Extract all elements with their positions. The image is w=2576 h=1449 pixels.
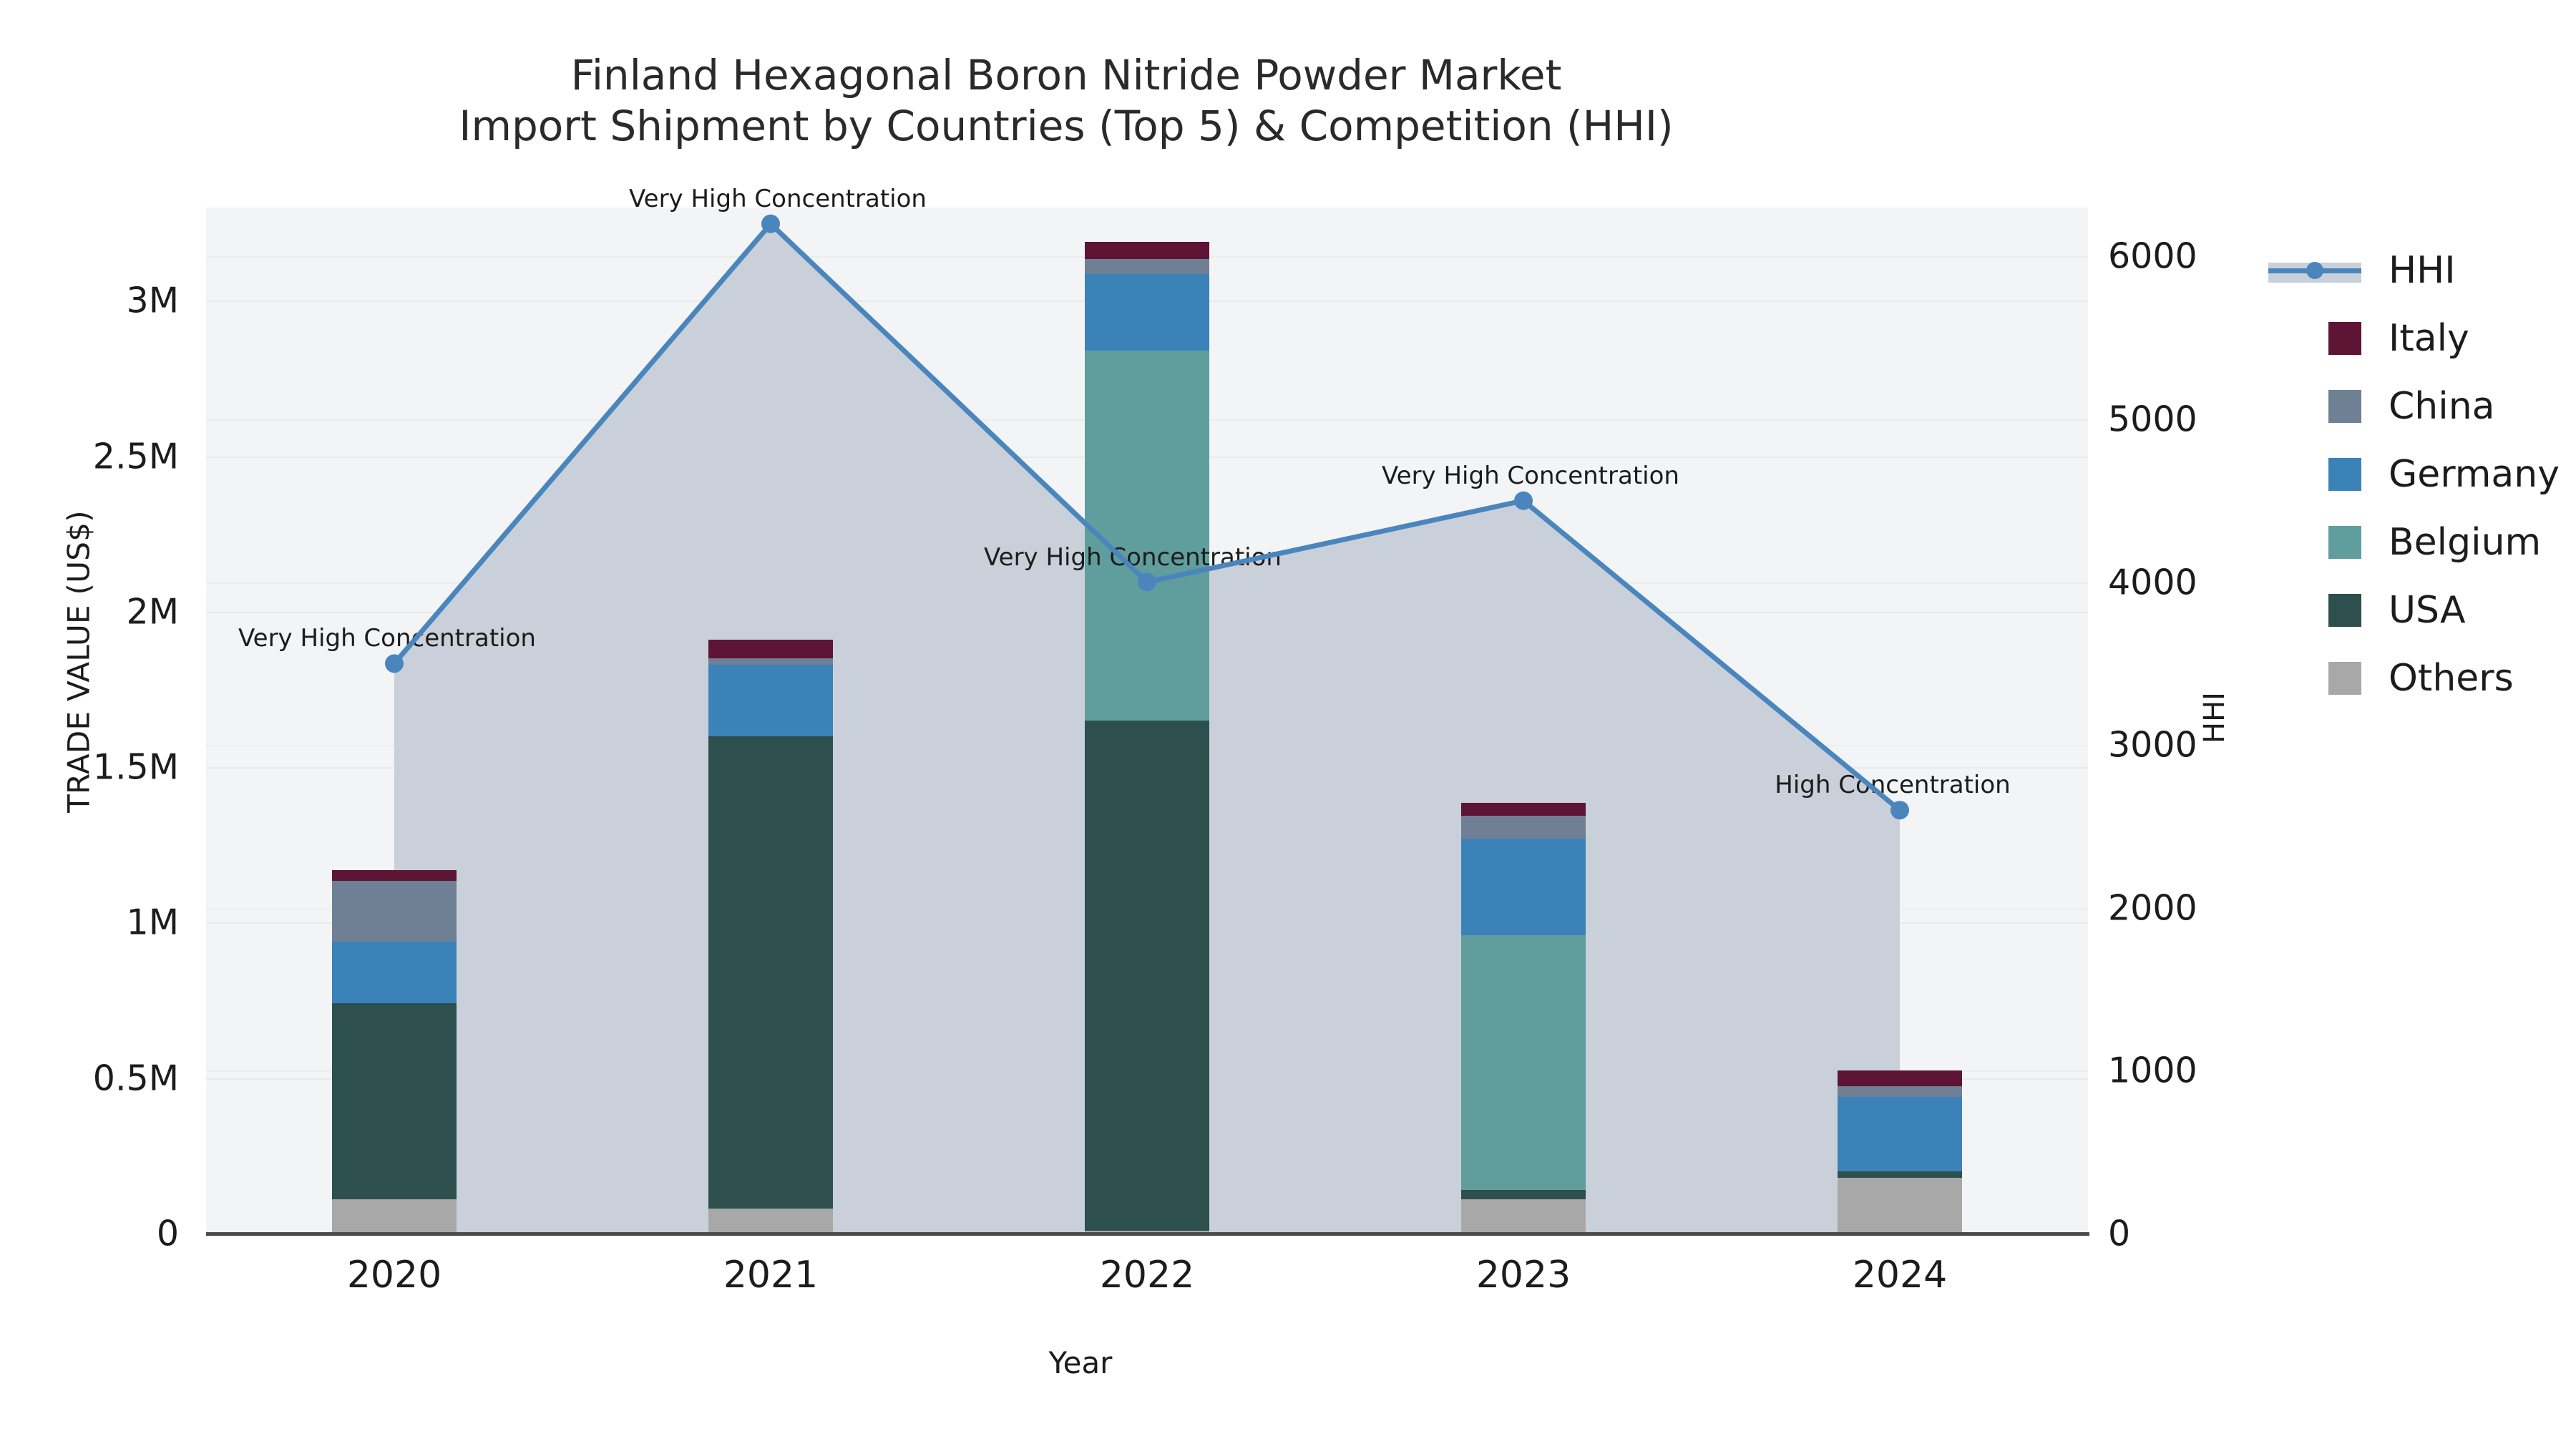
y-tick-left-0.5M: 0.5M <box>14 1058 179 1098</box>
legend-label-usa: USA <box>2389 589 2466 632</box>
legend: HHIItalyChinaGermanyBelgiumUSAOthers <box>2268 236 2560 712</box>
y-axis-left-title: TRADE VALUE (US$) <box>62 411 97 912</box>
legend-swatch-usa <box>2328 594 2361 627</box>
bar-segment-others-2020[interactable] <box>332 1199 457 1234</box>
bar-group-2024[interactable] <box>1838 1070 1962 1234</box>
chart-title: Finland Hexagonal Boron Nitride Powder M… <box>0 50 2132 152</box>
bar-segment-italy-2020[interactable] <box>332 870 457 881</box>
bar-segment-china-2022[interactable] <box>1085 259 1209 275</box>
y-tick-right-6000: 6000 <box>2108 236 2294 277</box>
bar-segment-usa-2021[interactable] <box>708 736 833 1209</box>
legend-swatch-others <box>2328 662 2361 695</box>
legend-label-belgium: Belgium <box>2389 521 2541 564</box>
bar-segment-usa-2020[interactable] <box>332 1003 457 1199</box>
bar-segment-germany-2023[interactable] <box>1461 839 1586 935</box>
bar-group-2022[interactable] <box>1085 242 1209 1234</box>
bar-segment-italy-2022[interactable] <box>1085 242 1209 259</box>
y-tick-left-2M: 2M <box>14 591 179 632</box>
x-tick-2020: 2020 <box>287 1254 502 1297</box>
y-tick-left-1.5M: 1.5M <box>14 747 179 788</box>
bar-segment-china-2024[interactable] <box>1838 1086 1962 1097</box>
bar-segment-china-2021[interactable] <box>708 658 833 665</box>
annotation-2023: Very High Concentration <box>1382 462 1679 490</box>
legend-label-hhi: HHI <box>2389 249 2456 292</box>
annotation-2022: Very High Concentration <box>984 543 1282 572</box>
legend-label-others: Others <box>2389 657 2514 700</box>
y-tick-right-0: 0 <box>2108 1214 2294 1254</box>
chart-title-line-2: Import Shipment by Countries (Top 5) & C… <box>0 101 2132 152</box>
bar-segment-italy-2024[interactable] <box>1838 1070 1962 1086</box>
chart-canvas: Finland Hexagonal Boron Nitride Powder M… <box>0 0 2576 1449</box>
bar-segment-china-2020[interactable] <box>332 881 457 942</box>
annotation-2020: Very High Concentration <box>238 624 536 653</box>
legend-swatch-china <box>2328 390 2361 423</box>
bar-segment-others-2024[interactable] <box>1838 1178 1962 1234</box>
chart-title-line-1: Finland Hexagonal Boron Nitride Powder M… <box>0 50 2132 101</box>
y-tick-left-0: 0 <box>14 1214 179 1254</box>
bar-segment-usa-2024[interactable] <box>1838 1171 1962 1178</box>
y-tick-right-2000: 2000 <box>2108 887 2294 928</box>
bar-segment-germany-2024[interactable] <box>1838 1097 1962 1171</box>
legend-item-belgium[interactable]: Belgium <box>2268 508 2560 576</box>
bar-segment-others-2023[interactable] <box>1461 1199 1586 1234</box>
y-tick-right-4000: 4000 <box>2108 562 2294 602</box>
bar-segment-others-2021[interactable] <box>708 1209 833 1234</box>
legend-line-dot <box>2306 262 2323 279</box>
bar-segment-china-2023[interactable] <box>1461 816 1586 839</box>
legend-item-usa[interactable]: USA <box>2268 576 2560 644</box>
legend-swatch-italy <box>2328 322 2361 355</box>
legend-item-germany[interactable]: Germany <box>2268 440 2560 508</box>
x-tick-2021: 2021 <box>663 1254 878 1297</box>
y-tick-right-5000: 5000 <box>2108 399 2294 439</box>
legend-label-italy: Italy <box>2389 317 2469 360</box>
x-tick-2023: 2023 <box>1416 1254 1631 1297</box>
legend-swatch-germany <box>2328 458 2361 491</box>
bar-group-2021[interactable] <box>708 640 833 1234</box>
bar-segment-usa-2022[interactable] <box>1085 721 1209 1231</box>
annotation-2024: High Concentration <box>1775 771 2010 799</box>
legend-item-italy[interactable]: Italy <box>2268 304 2560 372</box>
bars-layer <box>206 208 2088 1234</box>
legend-item-hhi[interactable]: HHI <box>2268 236 2560 304</box>
legend-item-others[interactable]: Others <box>2268 644 2560 712</box>
bar-segment-belgium-2023[interactable] <box>1461 935 1586 1190</box>
x-tick-2024: 2024 <box>1792 1254 2007 1297</box>
bar-segment-germany-2020[interactable] <box>332 942 457 1004</box>
bar-segment-usa-2023[interactable] <box>1461 1190 1586 1199</box>
bar-group-2020[interactable] <box>332 870 457 1234</box>
bar-segment-italy-2021[interactable] <box>708 640 833 658</box>
bar-segment-germany-2022[interactable] <box>1085 274 1209 350</box>
bar-segment-germany-2021[interactable] <box>708 665 833 736</box>
x-axis-title: Year <box>937 1345 1224 1380</box>
legend-label-germany: Germany <box>2389 453 2560 496</box>
y-tick-left-1M: 1M <box>14 902 179 943</box>
x-axis-baseline <box>206 1232 2089 1236</box>
bar-segment-belgium-2022[interactable] <box>1085 351 1209 721</box>
y-tick-left-2.5M: 2.5M <box>14 436 179 477</box>
annotation-2021: Very High Concentration <box>629 185 927 213</box>
x-tick-2022: 2022 <box>1040 1254 1254 1297</box>
legend-item-china[interactable]: China <box>2268 372 2560 440</box>
bar-segment-italy-2023[interactable] <box>1461 803 1586 815</box>
y-axis-right-title: HHI <box>2198 632 2231 804</box>
y-tick-left-3M: 3M <box>14 280 179 321</box>
legend-line-marker-icon <box>2268 254 2361 287</box>
bar-group-2023[interactable] <box>1461 803 1586 1234</box>
legend-swatch-belgium <box>2328 526 2361 559</box>
y-tick-right-1000: 1000 <box>2108 1050 2294 1091</box>
legend-label-china: China <box>2389 385 2495 428</box>
